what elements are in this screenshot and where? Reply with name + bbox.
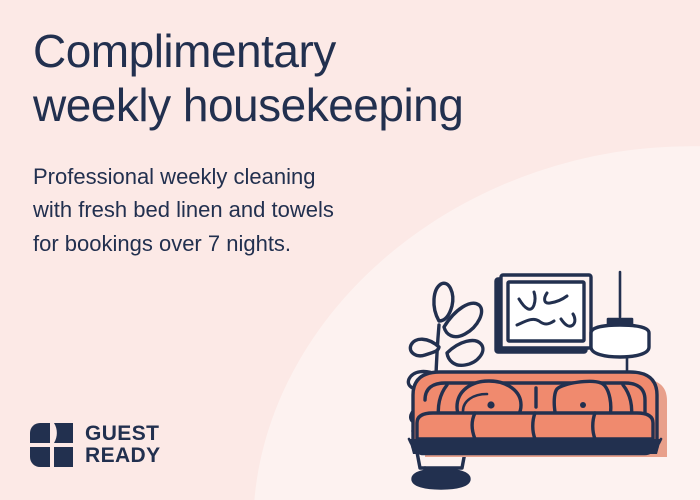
pendant-lamp-icon xyxy=(591,272,649,379)
logo-wordmark: GUEST READY xyxy=(85,423,161,468)
sofa-icon xyxy=(409,372,667,457)
promo-banner: Complimentary weekly housekeeping Profes… xyxy=(0,0,700,500)
page-title: Complimentary weekly housekeeping xyxy=(33,24,633,133)
living-room-illustration xyxy=(395,255,700,500)
framed-artwork-icon xyxy=(496,275,591,352)
body-copy: Professional weekly cleaning with fresh … xyxy=(33,160,463,260)
guest-ready-logo: GUEST READY xyxy=(30,422,161,468)
guest-ready-quadrant-mark xyxy=(30,422,74,468)
